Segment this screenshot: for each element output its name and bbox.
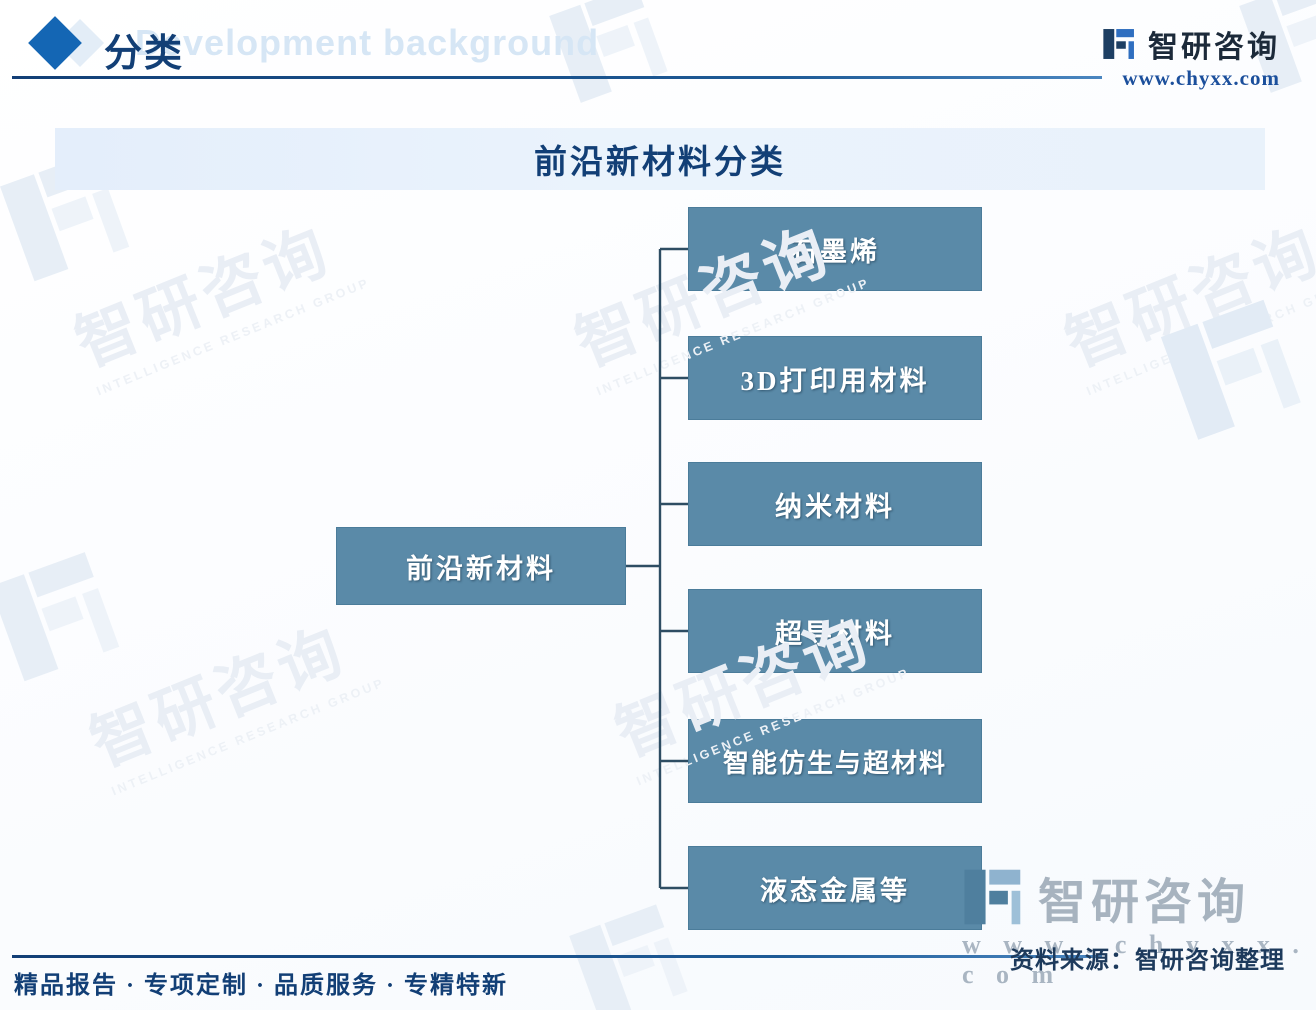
watermark-subtitle: INTELLIGENCE RESEARCH GROUP <box>109 675 387 798</box>
diagram-leaf-node[interactable]: 石墨烯 <box>688 207 982 291</box>
bottom-right-watermark: 智研咨询 <box>962 862 1250 932</box>
diagram-leaf-node[interactable]: 智能仿生与超材料 <box>688 719 982 803</box>
logo-watermark-icon <box>560 892 701 1010</box>
slide-page: 智研咨询 INTELLIGENCE RESEARCH GROUP 智研咨询 IN… <box>0 0 1316 1010</box>
diagram-leaf-node[interactable]: 纳米材料 <box>688 462 982 546</box>
diagram-root-node[interactable]: 前沿新材料 <box>336 527 626 605</box>
diagram-leaf-node[interactable]: 3D打印用材料 <box>688 336 982 420</box>
node-label: 3D打印用材料 <box>741 359 930 398</box>
node-label: 液态金属等 <box>760 869 910 908</box>
footer-divider <box>12 955 1102 958</box>
diagram-leaf-node[interactable]: 超导材料 <box>688 589 982 673</box>
diagram-leaf-node[interactable]: 液态金属等 <box>688 846 982 930</box>
node-label: 纳米材料 <box>775 485 895 524</box>
watermark-subtitle: INTELLIGENCE RESEARCH GROUP <box>1084 275 1316 398</box>
logo-watermark-icon <box>1150 286 1316 453</box>
watermark-text: 智研咨询 INTELLIGENCE RESEARCH GROUP <box>75 590 387 798</box>
brand-url[interactable]: www.chyxx.com <box>1122 66 1280 91</box>
source-note: 资料来源：智研咨询整理 <box>1010 940 1285 975</box>
node-label: 智能仿生与超材料 <box>723 743 947 780</box>
page-header: Development background 分类 智研咨询 www.chyxx… <box>0 0 1316 100</box>
chart-title: 前沿新材料分类 <box>534 135 786 183</box>
brand-name: 智研咨询 <box>1148 22 1280 66</box>
header-divider <box>12 76 1102 79</box>
logo-watermark-icon <box>0 539 134 693</box>
page-title: 分类 <box>104 22 184 77</box>
watermark-subtitle: INTELLIGENCE RESEARCH GROUP <box>94 275 372 398</box>
node-label: 超导材料 <box>775 612 895 651</box>
watermark-text: 智研咨询 INTELLIGENCE RESEARCH GROUP <box>1050 190 1316 398</box>
header-background-text: Development background <box>135 22 599 64</box>
node-label: 石墨烯 <box>790 230 880 269</box>
brand-logo[interactable]: 智研咨询 <box>1102 22 1280 66</box>
chart-title-banner: 前沿新材料分类 <box>55 128 1265 190</box>
watermark-brand-name: 智研咨询 <box>1038 862 1250 932</box>
chyxx-logo-icon <box>1102 27 1136 61</box>
node-label: 前沿新材料 <box>406 547 556 586</box>
footer-tagline: 精品报告 · 专项定制 · 品质服务 · 专精特新 <box>14 965 508 1000</box>
watermark-text: 智研咨询 INTELLIGENCE RESEARCH GROUP <box>60 190 372 398</box>
